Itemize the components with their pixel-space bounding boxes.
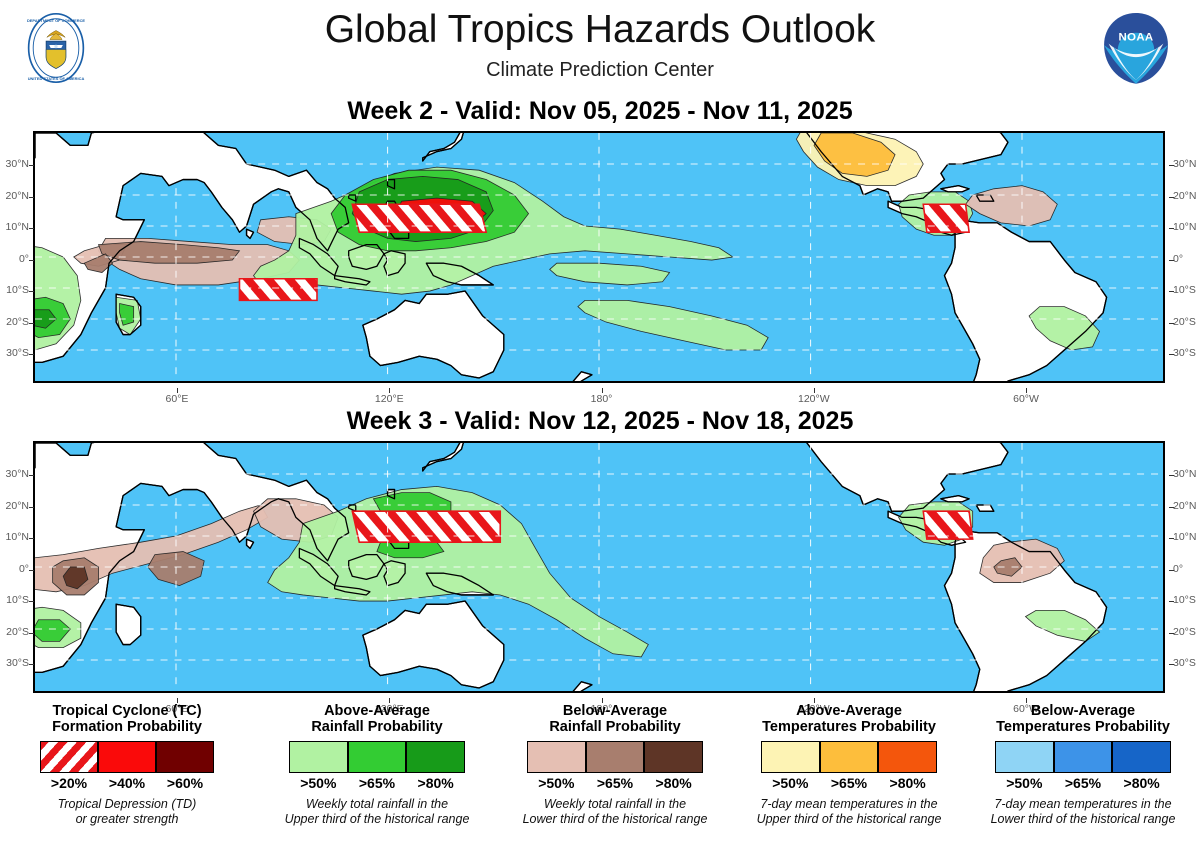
lat-label-left-20: 20°N: [0, 500, 29, 512]
legend-title-line1: Below-Average: [1031, 703, 1135, 719]
tc-formation-20-philippine-sea: [352, 511, 500, 542]
lat-tick-left--20: [29, 323, 34, 324]
lat-label-right-30: 30°N: [1173, 158, 1200, 170]
legend-footnote-tropical-cyclone: Tropical Depression (TD)or greater stren…: [22, 797, 232, 827]
lon-label-300: 60°W: [1013, 393, 1039, 405]
legend-block-tropical-cyclone: Tropical Cyclone (TC)Formation Probabili…: [22, 703, 232, 827]
legend-foot-line2: Upper third of the historical range: [285, 812, 470, 826]
lat-label-right-30: 30°N: [1173, 468, 1200, 480]
lat-tick-right-30: [1169, 165, 1174, 166]
lat-label-left-30: 30°N: [0, 468, 29, 480]
legend-ticks-tropical-cyclone: >20%>40%>60%: [40, 775, 214, 791]
lat-tick-left-10: [29, 538, 34, 539]
legend-foot-line2: Upper third of the historical range: [757, 812, 942, 826]
lon-label-120: 120°E: [375, 393, 404, 405]
lat-tick-right--10: [1169, 291, 1174, 292]
legend-tick-tropical-cyclone-0: >20%: [40, 775, 98, 791]
lon-label-180: 180°: [591, 393, 613, 405]
legend-tick-above-average-temperatures-2: >80%: [878, 775, 937, 791]
legend-swatch-below-average-temperatures-2[interactable]: [1112, 741, 1171, 773]
legend-swatch-below-average-temperatures-0[interactable]: [995, 741, 1054, 773]
lat-label-right--30: 30°S: [1173, 347, 1200, 359]
lat-tick-left-30: [29, 475, 34, 476]
lat-label-left--20: 20°S: [0, 626, 29, 638]
legend-block-above-average-temperatures: Above-AverageTemperatures Probability >5…: [734, 703, 964, 827]
lon-tick-180: [602, 388, 603, 393]
legend-block-below-average-rainfall: Below-AverageRainfall Probability >50%>6…: [500, 703, 730, 827]
lat-label-right-10: 10°N: [1173, 531, 1200, 543]
legend-colorbar-below-average-temperatures: [995, 741, 1171, 773]
lat-tick-right-20: [1169, 197, 1174, 198]
legend-tick-above-average-temperatures-0: >50%: [761, 775, 820, 791]
lat-label-left-10: 10°N: [0, 531, 29, 543]
lat-label-right--10: 10°S: [1173, 594, 1200, 606]
week2-map[interactable]: [33, 131, 1165, 383]
lat-label-left-10: 10°N: [0, 221, 29, 233]
legend-swatch-above-average-rainfall-1[interactable]: [348, 741, 407, 773]
legend-title-below-average-temperatures: Below-AverageTemperatures Probability: [968, 703, 1198, 735]
tc-formation-20-sw-caribbean: [923, 204, 969, 232]
tc-formation-20-sw-caribbean: [923, 511, 972, 539]
lon-tick-60: [177, 388, 178, 393]
lat-label-right-0: 0°: [1173, 253, 1200, 265]
lat-tick-right-30: [1169, 475, 1174, 476]
legend-ticks-above-average-rainfall: >50%>65%>80%: [289, 775, 465, 791]
lat-tick-left--30: [29, 354, 34, 355]
legend-title-tropical-cyclone: Tropical Cyclone (TC)Formation Probabili…: [22, 703, 232, 735]
lat-label-right--20: 20°S: [1173, 316, 1200, 328]
lat-label-left-0: 0°: [0, 253, 29, 265]
legend-block-below-average-temperatures: Below-AverageTemperatures Probability >5…: [968, 703, 1198, 827]
lat-tick-left-0: [29, 570, 34, 571]
lon-tick-240: [814, 388, 815, 393]
legend-tick-below-average-temperatures-2: >80%: [1112, 775, 1171, 791]
legend-colorbar-above-average-temperatures: [761, 741, 937, 773]
legend-tick-below-average-temperatures-1: >65%: [1054, 775, 1113, 791]
noaa-wordmark: NOAA: [1118, 31, 1153, 43]
legend-title-above-average-temperatures: Above-AverageTemperatures Probability: [734, 703, 964, 735]
legend-title-line2: Temperatures Probability: [762, 719, 936, 735]
legend-footnote-below-average-temperatures: 7-day mean temperatures in theLower thir…: [968, 797, 1198, 827]
legend-swatch-tropical-cyclone-2[interactable]: [156, 741, 214, 773]
legend-footnote-below-average-rainfall: Weekly total rainfall in theLower third …: [500, 797, 730, 827]
lat-label-right-0: 0°: [1173, 563, 1200, 575]
legend-tick-below-average-rainfall-2: >80%: [644, 775, 703, 791]
legend-swatch-above-average-rainfall-2[interactable]: [406, 741, 465, 773]
week3-panel-title: Week 3 - Valid: Nov 12, 2025 - Nov 18, 2…: [0, 407, 1200, 436]
legend-swatch-below-average-rainfall-1[interactable]: [586, 741, 645, 773]
legend-ticks-below-average-temperatures: >50%>65%>80%: [995, 775, 1171, 791]
week2-panel-title: Week 2 - Valid: Nov 05, 2025 - Nov 11, 2…: [0, 97, 1200, 126]
legend-tick-above-average-rainfall-1: >65%: [348, 775, 407, 791]
legend-tick-above-average-rainfall-0: >50%: [289, 775, 348, 791]
legend-ticks-above-average-temperatures: >50%>65%>80%: [761, 775, 937, 791]
legend-swatch-above-average-temperatures-2[interactable]: [878, 741, 937, 773]
lat-label-right--10: 10°S: [1173, 284, 1200, 296]
lat-tick-right--20: [1169, 633, 1174, 634]
legend-tick-tropical-cyclone-1: >40%: [98, 775, 156, 791]
legend: Tropical Cyclone (TC)Formation Probabili…: [0, 703, 1200, 848]
lat-label-right-20: 20°N: [1173, 500, 1200, 512]
legend-tick-below-average-rainfall-1: >65%: [586, 775, 645, 791]
legend-foot-line2: Lower third of the historical range: [991, 812, 1176, 826]
lat-label-left--10: 10°S: [0, 594, 29, 606]
legend-foot-line1: Tropical Depression (TD): [58, 797, 197, 811]
lat-label-left-20: 20°N: [0, 190, 29, 202]
legend-title-above-average-rainfall: Above-AverageRainfall Probability: [262, 703, 492, 735]
lat-label-left--30: 30°S: [0, 657, 29, 669]
legend-tick-above-average-temperatures-1: >65%: [820, 775, 879, 791]
lat-tick-left-20: [29, 507, 34, 508]
legend-swatch-above-average-temperatures-0[interactable]: [761, 741, 820, 773]
tc-formation-20-philippine-sea: [352, 204, 486, 232]
lat-label-left-30: 30°N: [0, 158, 29, 170]
legend-foot-line1: Weekly total rainfall in the: [544, 797, 686, 811]
legend-colorbar-above-average-rainfall: [289, 741, 465, 773]
lon-tick-120: [389, 388, 390, 393]
legend-tick-above-average-rainfall-2: >80%: [406, 775, 465, 791]
legend-tick-below-average-rainfall-0: >50%: [527, 775, 586, 791]
lat-tick-right--10: [1169, 601, 1174, 602]
legend-title-line2: Formation Probability: [52, 719, 202, 735]
legend-title-line1: Below-Average: [563, 703, 667, 719]
legend-swatch-above-average-rainfall-0[interactable]: [289, 741, 348, 773]
lat-label-left--10: 10°S: [0, 284, 29, 296]
legend-title-line1: Above-Average: [796, 703, 902, 719]
lat-tick-right-0: [1169, 260, 1174, 261]
legend-swatch-below-average-rainfall-0[interactable]: [527, 741, 586, 773]
lon-tick-300: [1026, 388, 1027, 393]
legend-swatch-tropical-cyclone-0[interactable]: [40, 741, 98, 773]
noaa-logo: NOAA: [1098, 10, 1174, 86]
lat-tick-left-30: [29, 165, 34, 166]
legend-title-line2: Rainfall Probability: [311, 719, 442, 735]
legend-swatch-below-average-temperatures-1[interactable]: [1054, 741, 1113, 773]
legend-swatch-above-average-temperatures-1[interactable]: [820, 741, 879, 773]
lat-label-left-0: 0°: [0, 563, 29, 575]
lat-label-right--20: 20°S: [1173, 626, 1200, 638]
legend-footnote-above-average-temperatures: 7-day mean temperatures in theUpper thir…: [734, 797, 964, 827]
lat-tick-left-20: [29, 197, 34, 198]
lat-tick-left--10: [29, 601, 34, 602]
legend-tick-below-average-temperatures-0: >50%: [995, 775, 1054, 791]
lat-tick-right-20: [1169, 507, 1174, 508]
legend-title-line2: Temperatures Probability: [996, 719, 1170, 735]
lat-tick-right-0: [1169, 570, 1174, 571]
legend-block-above-average-rainfall: Above-AverageRainfall Probability >50%>6…: [262, 703, 492, 827]
lat-tick-left-0: [29, 260, 34, 261]
lat-tick-right-10: [1169, 538, 1174, 539]
legend-swatch-tropical-cyclone-1[interactable]: [98, 741, 156, 773]
legend-foot-line1: 7-day mean temperatures in the: [994, 797, 1171, 811]
lat-tick-left--30: [29, 664, 34, 665]
tc-formation-20-se-indian-ocean: [239, 279, 317, 301]
legend-colorbar-tropical-cyclone: [40, 741, 214, 773]
lon-label-240: 120°W: [798, 393, 830, 405]
lat-tick-right--20: [1169, 323, 1174, 324]
legend-swatch-below-average-rainfall-2[interactable]: [644, 741, 703, 773]
lat-label-right--30: 30°S: [1173, 657, 1200, 669]
lat-tick-right--30: [1169, 664, 1174, 665]
lat-label-left--20: 20°S: [0, 316, 29, 328]
lat-tick-left--10: [29, 291, 34, 292]
legend-footnote-above-average-rainfall: Weekly total rainfall in theUpper third …: [262, 797, 492, 827]
lat-label-left--30: 30°S: [0, 347, 29, 359]
lat-tick-left--20: [29, 633, 34, 634]
page-subtitle: Climate Prediction Center: [0, 59, 1200, 82]
lat-label-right-20: 20°N: [1173, 190, 1200, 202]
outlook-page: DEPARTMENT OF COMMERCE UNITED STATES OF …: [0, 0, 1200, 848]
legend-foot-line1: Weekly total rainfall in the: [306, 797, 448, 811]
lat-label-right-10: 10°N: [1173, 221, 1200, 233]
legend-foot-line2: Lower third of the historical range: [523, 812, 708, 826]
lon-label-60: 60°E: [166, 393, 189, 405]
legend-foot-line2: or greater strength: [76, 812, 179, 826]
page-title: Global Tropics Hazards Outlook: [0, 8, 1200, 52]
legend-tick-tropical-cyclone-2: >60%: [156, 775, 214, 791]
legend-foot-line1: 7-day mean temperatures in the: [760, 797, 937, 811]
lat-tick-right-10: [1169, 228, 1174, 229]
legend-ticks-below-average-rainfall: >50%>65%>80%: [527, 775, 703, 791]
lat-tick-right--30: [1169, 354, 1174, 355]
legend-title-line1: Above-Average: [324, 703, 430, 719]
legend-title-line1: Tropical Cyclone (TC): [52, 703, 201, 719]
lat-tick-left-10: [29, 228, 34, 229]
week3-map[interactable]: [33, 441, 1165, 693]
legend-title-below-average-rainfall: Below-AverageRainfall Probability: [500, 703, 730, 735]
legend-colorbar-below-average-rainfall: [527, 741, 703, 773]
legend-title-line2: Rainfall Probability: [549, 719, 680, 735]
